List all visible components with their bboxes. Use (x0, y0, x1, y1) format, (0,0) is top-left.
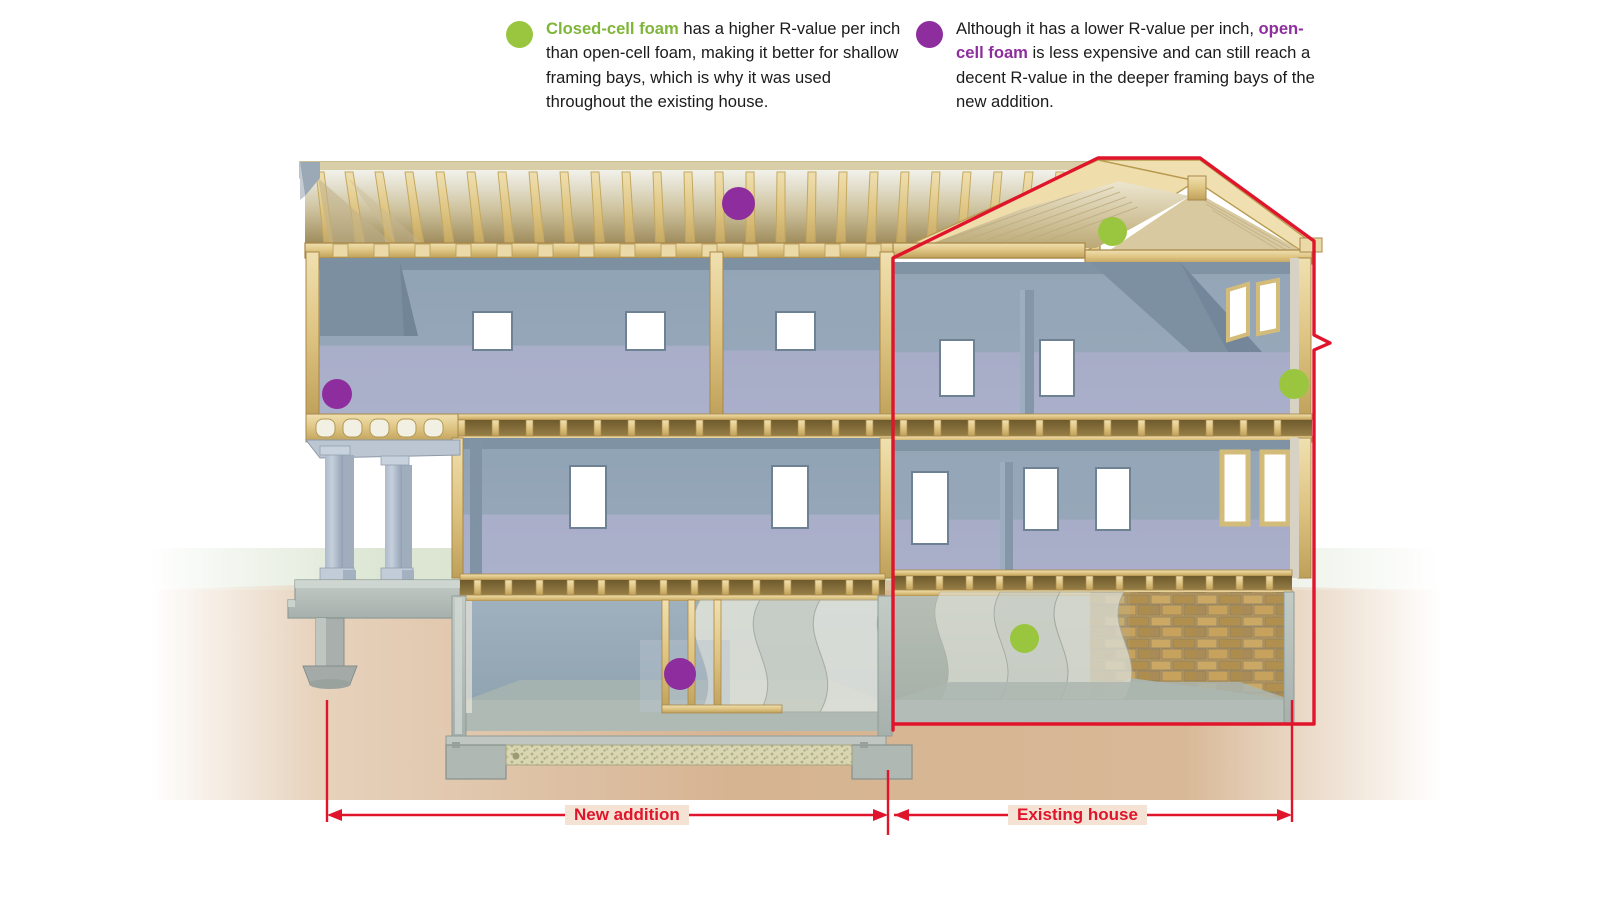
dimension-label-existing-house: Existing house (1008, 805, 1147, 825)
dimension-label-new-addition: New addition (565, 805, 689, 825)
marker-basement-open-cell (664, 658, 696, 690)
marker-wall-open-cell (322, 379, 352, 409)
marker-gable-closed-cell (1098, 217, 1127, 246)
callout-closed-cell: Closed-cell foam has a higher R-value pe… (506, 17, 911, 115)
callout-lead-open-cell: Although it has a lower R-value per inch… (956, 19, 1259, 38)
callout-open-cell: Although it has a lower R-value per inch… (916, 17, 1316, 115)
porch-rim-blocking (306, 414, 458, 442)
illustration-canvas: Closed-cell foam has a higher R-value pe… (0, 0, 1600, 900)
callout-keyword-closed-cell: Closed-cell foam (546, 19, 679, 38)
marker-attic-open-cell (722, 187, 755, 220)
first-floor (306, 438, 1311, 578)
marker-rimjoist-closed-cell (1279, 369, 1309, 399)
basement-existing-house (892, 570, 1294, 724)
callout-text-open-cell: Although it has a lower R-value per inch… (956, 17, 1316, 115)
callout-dot-purple (916, 21, 943, 48)
house-section-drawing (0, 0, 1600, 900)
basement-new-addition (452, 574, 892, 736)
second-floor (306, 252, 1311, 422)
marker-foundation-closed-cell (1010, 624, 1039, 653)
callout-dot-green (506, 21, 533, 48)
callout-text-closed-cell: Closed-cell foam has a higher R-value pe… (546, 17, 911, 115)
